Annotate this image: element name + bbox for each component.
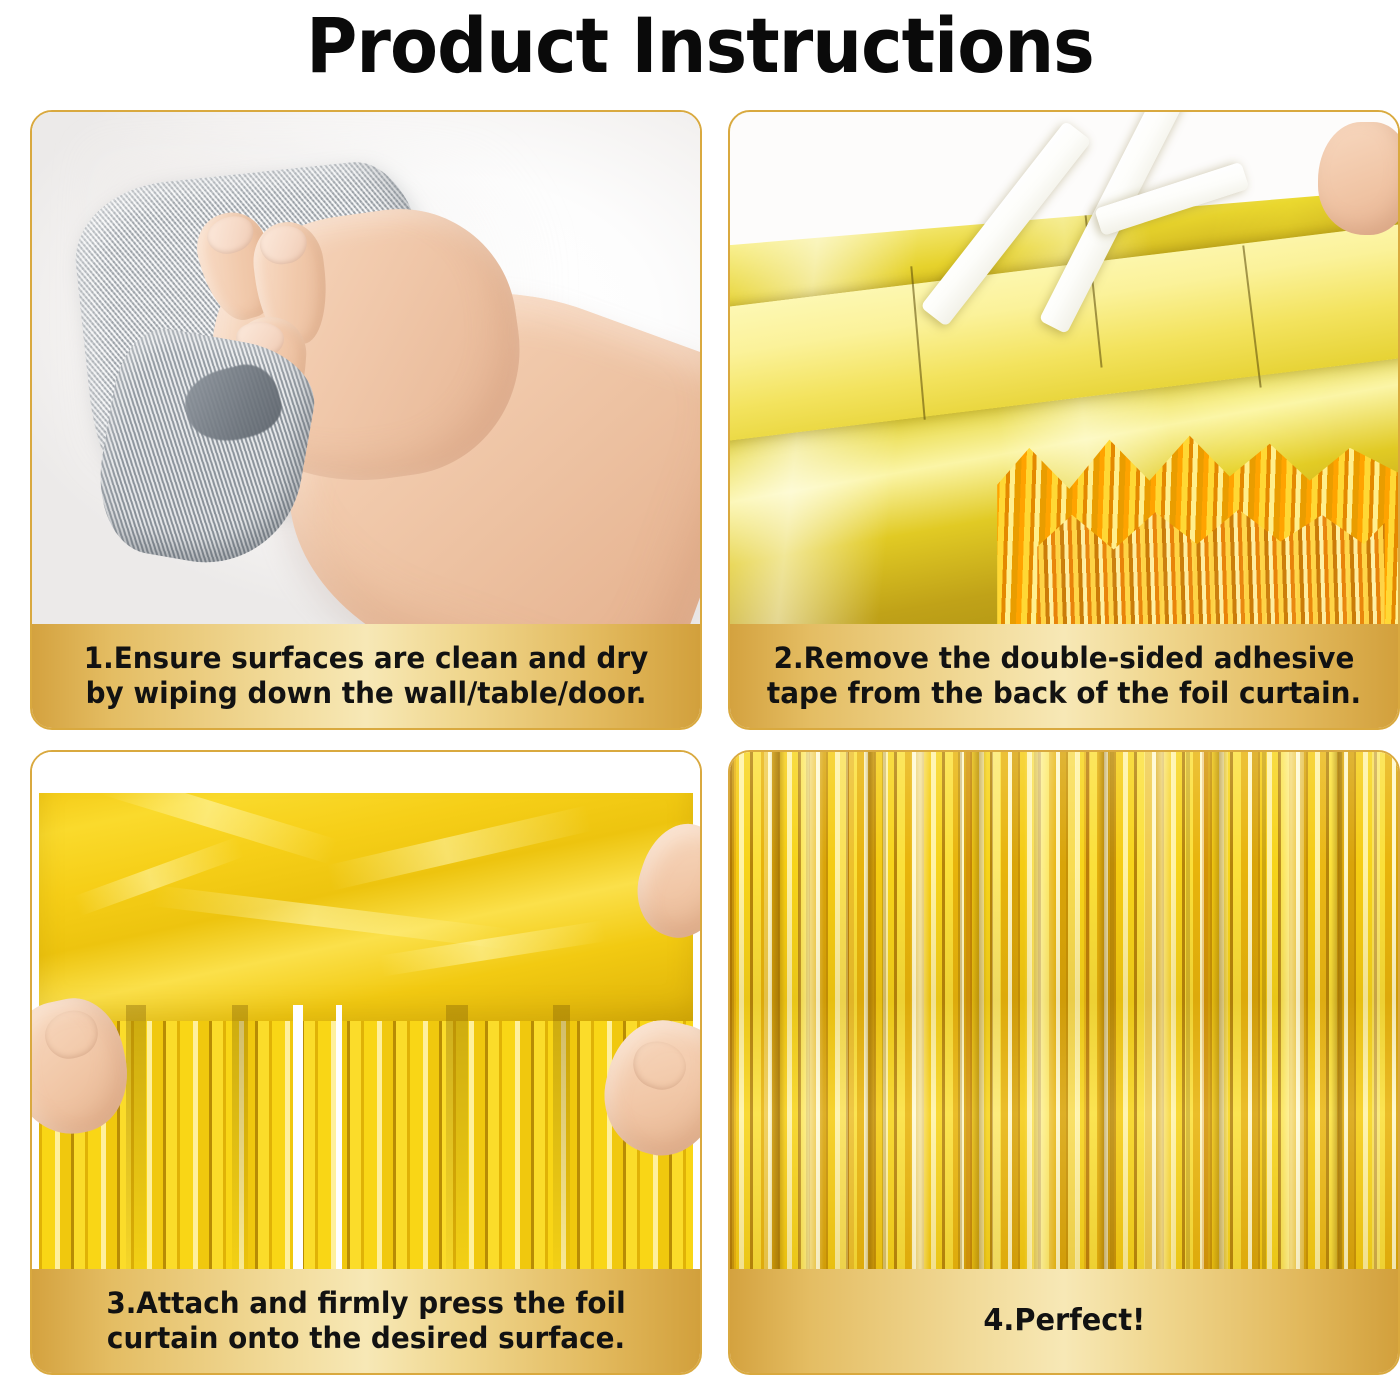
step-3-caption-band: 3.Attach and firmly press the foil curta… <box>32 1269 700 1373</box>
fringe-dark-band <box>770 752 785 1269</box>
fringe-highlight <box>1151 752 1174 1269</box>
strand-shadow <box>553 1005 570 1269</box>
instruction-infographic: Product Instructions <box>0 0 1400 1400</box>
fringe-highlight <box>1024 752 1057 1269</box>
step-2-image <box>730 112 1398 624</box>
fringe-highlight <box>910 752 930 1269</box>
step-card-3: 3.Attach and firmly press the foil curta… <box>30 750 702 1375</box>
page-title: Product Instructions <box>56 8 1344 84</box>
strand-gap <box>336 1005 342 1269</box>
strand-shadow <box>232 1005 248 1269</box>
step-card-1: 1.Ensure surfaces are clean and dry by w… <box>30 110 702 730</box>
step-4-image <box>730 752 1398 1269</box>
step-1-caption-text: 1.Ensure surfaces are clean and dry by w… <box>63 641 670 712</box>
strand-gap <box>293 1005 304 1269</box>
fringe-dark-band <box>1331 752 1344 1269</box>
step-2-caption-band: 2.Remove the double-sided adhesive tape … <box>730 624 1398 728</box>
white-background-top <box>32 752 700 793</box>
strand-shadow <box>446 1005 467 1269</box>
step-card-4: 4.Perfect! <box>728 750 1400 1375</box>
step-4-caption-band: 4.Perfect! <box>730 1269 1398 1373</box>
fringe-dark-band <box>1097 752 1110 1269</box>
foil-header-panel <box>39 783 694 1021</box>
fringe-highlight <box>1278 752 1305 1269</box>
step-4-caption-text: 4.Perfect! <box>983 1303 1145 1340</box>
steps-grid: 1.Ensure surfaces are clean and dry by w… <box>30 110 1370 1375</box>
fringe-dark-band <box>1211 752 1228 1269</box>
step-1-caption-band: 1.Ensure surfaces are clean and dry by w… <box>32 624 700 728</box>
thumb <box>1318 122 1398 235</box>
step-1-image <box>32 112 700 624</box>
fringe-dark-band <box>864 752 876 1269</box>
step-card-2: 2.Remove the double-sided adhesive tape … <box>728 110 1400 730</box>
step-3-image <box>32 752 700 1269</box>
fringe-highlight <box>797 752 824 1269</box>
step-3-caption-text: 3.Attach and firmly press the foil curta… <box>63 1286 670 1357</box>
fringe-dark-band <box>970 752 986 1269</box>
strand-shadow <box>126 1005 146 1269</box>
step-2-caption-text: 2.Remove the double-sided adhesive tape … <box>761 641 1368 712</box>
